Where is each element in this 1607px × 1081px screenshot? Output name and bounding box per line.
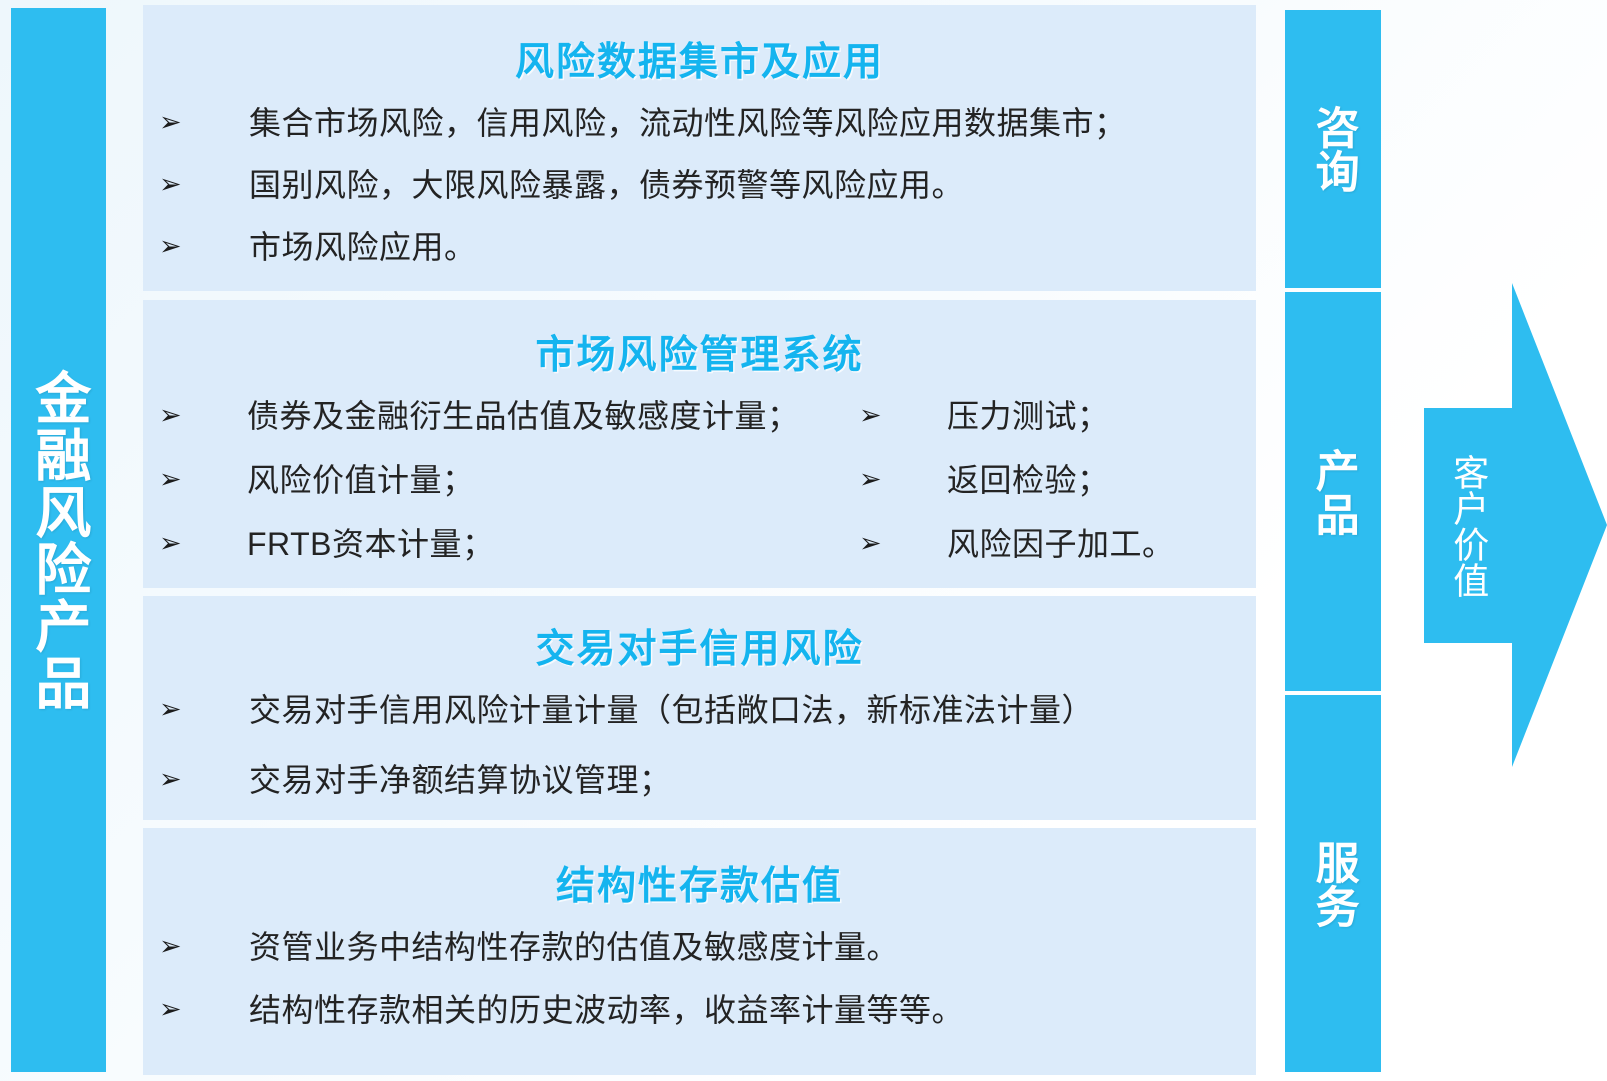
arrow-label: 客户价值: [1424, 408, 1512, 643]
panel-risk-data-mart: 风险数据集市及应用 ➢ 集合市场风险，信用风险，流动性风险等风险应用数据集市； …: [143, 5, 1256, 291]
left-category-bar: 金融风险产品: [11, 8, 106, 1072]
panel-title: 市场风险管理系统: [143, 324, 1256, 380]
bullet-arrow-icon: ➢: [159, 101, 187, 145]
bullet-text: 债券及金融衍生品估值及敏感度计量；: [247, 394, 800, 438]
bullet-text: 市场风险应用。: [249, 225, 477, 269]
bullet-text: 交易对手信用风险计量计量（包括敞口法，新标准法计量）: [249, 688, 1094, 732]
panel-title: 结构性存款估值: [143, 855, 1256, 911]
left-category-label: 金融风险产品: [11, 8, 106, 1072]
bullet-list: ➢ 集合市场风险，信用风险，流动性风险等风险应用数据集市； ➢ 国别风险，大限风…: [143, 101, 1256, 287]
bullet-arrow-icon: ➢: [159, 758, 187, 802]
bullet-text: 压力测试；: [947, 394, 1110, 438]
bullet-arrow-icon: ➢: [159, 163, 187, 207]
bullet-arrow-icon: ➢: [159, 394, 187, 438]
bullet-text: 结构性存款相关的历史波动率，收益率计量等等。: [249, 988, 964, 1032]
panel-structured-deposit-valuation: 结构性存款估值 ➢ 资管业务中结构性存款的估值及敏感度计量。 ➢ 结构性存款相关…: [143, 828, 1256, 1075]
bullet-item: ➢ 债券及金融衍生品估值及敏感度计量；: [159, 394, 859, 458]
bullet-text: 资管业务中结构性存款的估值及敏感度计量。: [249, 925, 899, 969]
bullet-list: ➢ 资管业务中结构性存款的估值及敏感度计量。 ➢ 结构性存款相关的历史波动率，收…: [143, 925, 1256, 1051]
bullet-text: 风险因子加工。: [947, 522, 1175, 566]
bullet-list: ➢ 债券及金融衍生品估值及敏感度计量； ➢ 压力测试； ➢ 风险价值计量； ➢: [143, 394, 1256, 586]
customer-value-arrow: 客户价值: [1424, 283, 1607, 767]
bullet-item: ➢ 资管业务中结构性存款的估值及敏感度计量。: [159, 925, 1256, 988]
bullet-item: ➢ 市场风险应用。: [159, 225, 1256, 287]
bullet-arrow-icon: ➢: [859, 394, 887, 438]
bullet-arrow-icon: ➢: [159, 688, 187, 732]
bullet-text: 风险价值计量；: [247, 458, 475, 502]
bullet-item: ➢ 压力测试；: [859, 394, 1256, 458]
stage-label: 产品: [1285, 292, 1381, 691]
bullet-item: ➢ 返回检验；: [859, 458, 1256, 522]
bullet-text: 返回检验；: [947, 458, 1110, 502]
stage-consulting: 咨询: [1285, 10, 1381, 288]
bullet-item: ➢ 风险因子加工。: [859, 522, 1256, 586]
stage-label: 咨询: [1285, 10, 1381, 288]
bullet-item: ➢ 结构性存款相关的历史波动率，收益率计量等等。: [159, 988, 1256, 1051]
bullet-arrow-icon: ➢: [159, 225, 187, 269]
bullet-item: ➢ 交易对手净额结算协议管理；: [159, 758, 1256, 820]
bullet-item: ➢ 风险价值计量；: [159, 458, 859, 522]
bullet-arrow-icon: ➢: [159, 458, 187, 502]
bullet-list: ➢ 交易对手信用风险计量计量（包括敞口法，新标准法计量） ➢ 交易对手净额结算协…: [143, 688, 1256, 820]
panel-counterparty-credit-risk: 交易对手信用风险 ➢ 交易对手信用风险计量计量（包括敞口法，新标准法计量） ➢ …: [143, 596, 1256, 820]
panel-stack: 风险数据集市及应用 ➢ 集合市场风险，信用风险，流动性风险等风险应用数据集市； …: [143, 5, 1256, 1075]
bullet-item: ➢ 国别风险，大限风险暴露，债券预警等风险应用。: [159, 163, 1256, 225]
bullet-item: ➢ 集合市场风险，信用风险，流动性风险等风险应用数据集市；: [159, 101, 1256, 163]
stage-service: 服务: [1285, 695, 1381, 1072]
bullet-arrow-icon: ➢: [859, 458, 887, 502]
bullet-item: ➢ 交易对手信用风险计量计量（包括敞口法，新标准法计量）: [159, 688, 1256, 758]
bullet-arrow-icon: ➢: [159, 925, 187, 969]
slide-canvas: 金融风险产品 风险数据集市及应用 ➢ 集合市场风险，信用风险，流动性风险等风险应…: [0, 0, 1607, 1081]
bullet-text: 交易对手净额结算协议管理；: [249, 758, 672, 802]
stage-product: 产品: [1285, 292, 1381, 691]
bullet-text: 国别风险，大限风险暴露，债券预警等风险应用。: [249, 163, 964, 207]
bullet-arrow-icon: ➢: [159, 522, 187, 566]
bullet-arrow-icon: ➢: [859, 522, 887, 566]
bullet-item: ➢ FRTB资本计量；: [159, 522, 859, 586]
panel-market-risk-system: 市场风险管理系统 ➢ 债券及金融衍生品估值及敏感度计量； ➢ 压力测试； ➢ 风…: [143, 300, 1256, 588]
bullet-text: 集合市场风险，信用风险，流动性风险等风险应用数据集市；: [249, 101, 1127, 145]
panel-title: 风险数据集市及应用: [143, 31, 1256, 87]
bullet-text: FRTB资本计量；: [247, 522, 494, 566]
stage-label: 服务: [1285, 695, 1381, 1072]
panel-title: 交易对手信用风险: [143, 618, 1256, 674]
bullet-arrow-icon: ➢: [159, 988, 187, 1032]
